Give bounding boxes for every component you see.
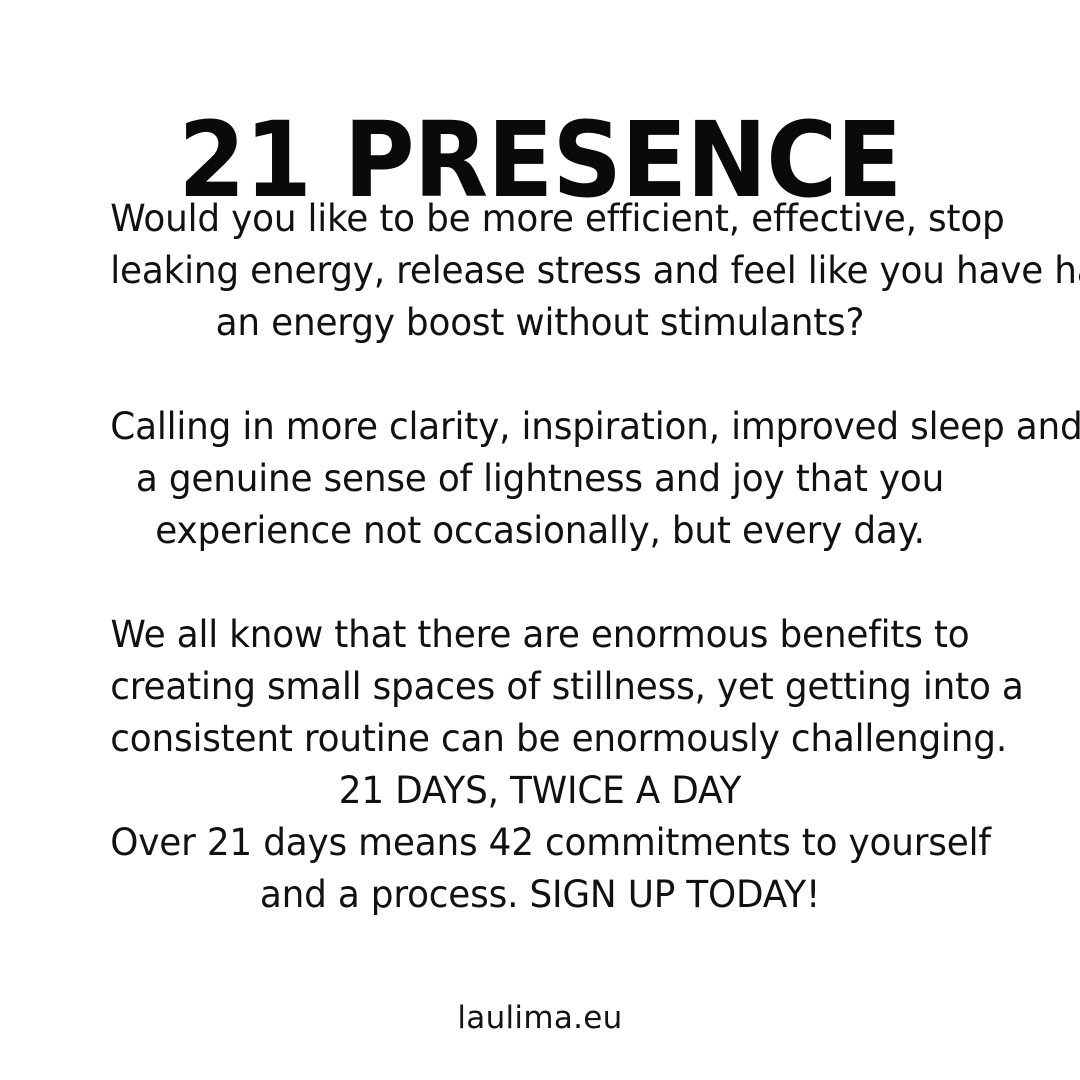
footer-container: laulima.eu	[0, 998, 1080, 1038]
text-line: an energy boost without stimulants?	[110, 296, 970, 348]
website-url[interactable]: laulima.eu	[457, 998, 622, 1038]
text-line: creating small spaces of stillness, yet …	[110, 660, 970, 712]
text-line: We all know that there are enormous bene…	[110, 608, 970, 660]
paragraph-challenge: We all know that there are enormous bene…	[110, 608, 970, 764]
text-line: Would you like to be more efficient, eff…	[110, 192, 970, 244]
call-to-action-line: and a process. SIGN UP TODAY!	[110, 868, 970, 920]
text-line: a genuine sense of lightness and joy tha…	[110, 452, 970, 504]
poster-canvas: 21 PRESENCE Would you like to be more ef…	[0, 0, 1080, 1080]
text-line: experience not occasionally, but every d…	[110, 504, 970, 556]
paragraph-benefits: Calling in more clarity, inspiration, im…	[110, 400, 970, 556]
text-line: consistent routine can be enormously cha…	[110, 712, 970, 764]
paragraph-intro-question: Would you like to be more efficient, eff…	[110, 192, 970, 348]
text-line: leaking energy, release stress and feel …	[110, 244, 970, 296]
text-line: Calling in more clarity, inspiration, im…	[110, 400, 970, 452]
text-line: Over 21 days means 42 commitments to you…	[110, 816, 970, 868]
paragraph-program-details: 21 DAYS, TWICE A DAY Over 21 days means …	[110, 764, 970, 920]
program-schedule-line: 21 DAYS, TWICE A DAY	[110, 764, 970, 816]
body-copy: Would you like to be more efficient, eff…	[90, 192, 990, 920]
